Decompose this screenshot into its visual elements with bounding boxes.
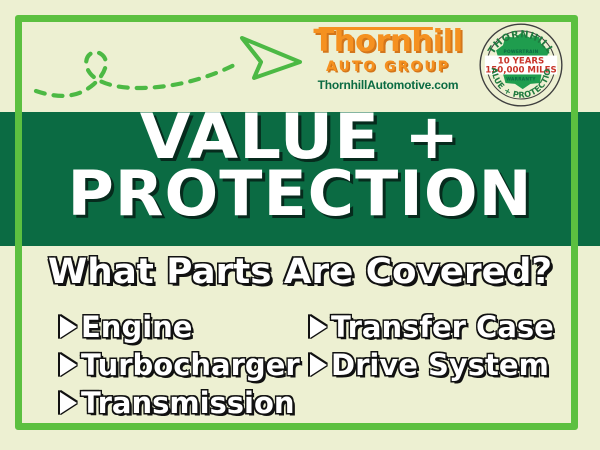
banner-frame bbox=[15, 15, 578, 430]
promotional-banner: Thornhill AUTO GROUP ThornhillAutomotive… bbox=[0, 0, 600, 450]
